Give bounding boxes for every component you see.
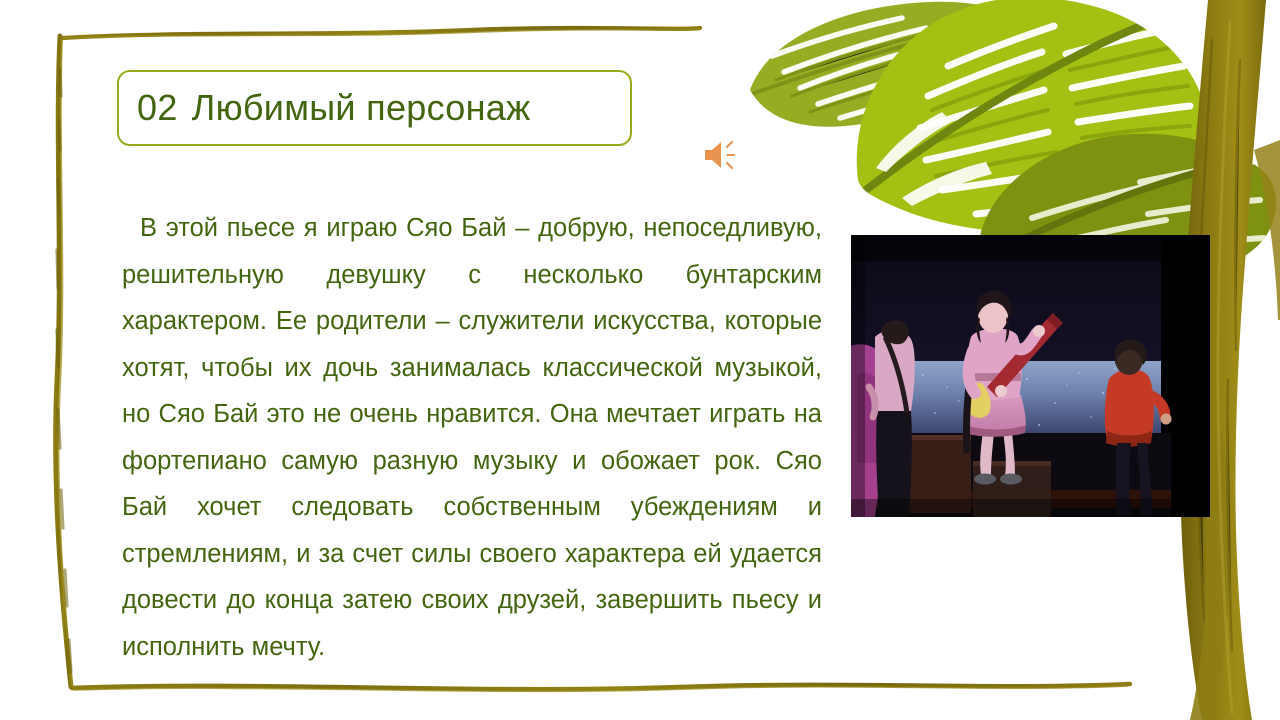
body-paragraph: В этой пьесе я играю Сяо Бай – добрую, н… [122, 205, 822, 670]
speaker-icon[interactable] [702, 138, 740, 172]
slide-canvas: 02Любимый персонаж В этой пьесе я играю … [0, 0, 1280, 720]
section-number: 02 [137, 87, 178, 128]
section-title: 02Любимый персонаж [137, 87, 531, 129]
stage-photo [851, 235, 1210, 517]
section-title-box: 02Любимый персонаж [117, 70, 632, 146]
section-title-label: Любимый персонаж [192, 87, 531, 128]
